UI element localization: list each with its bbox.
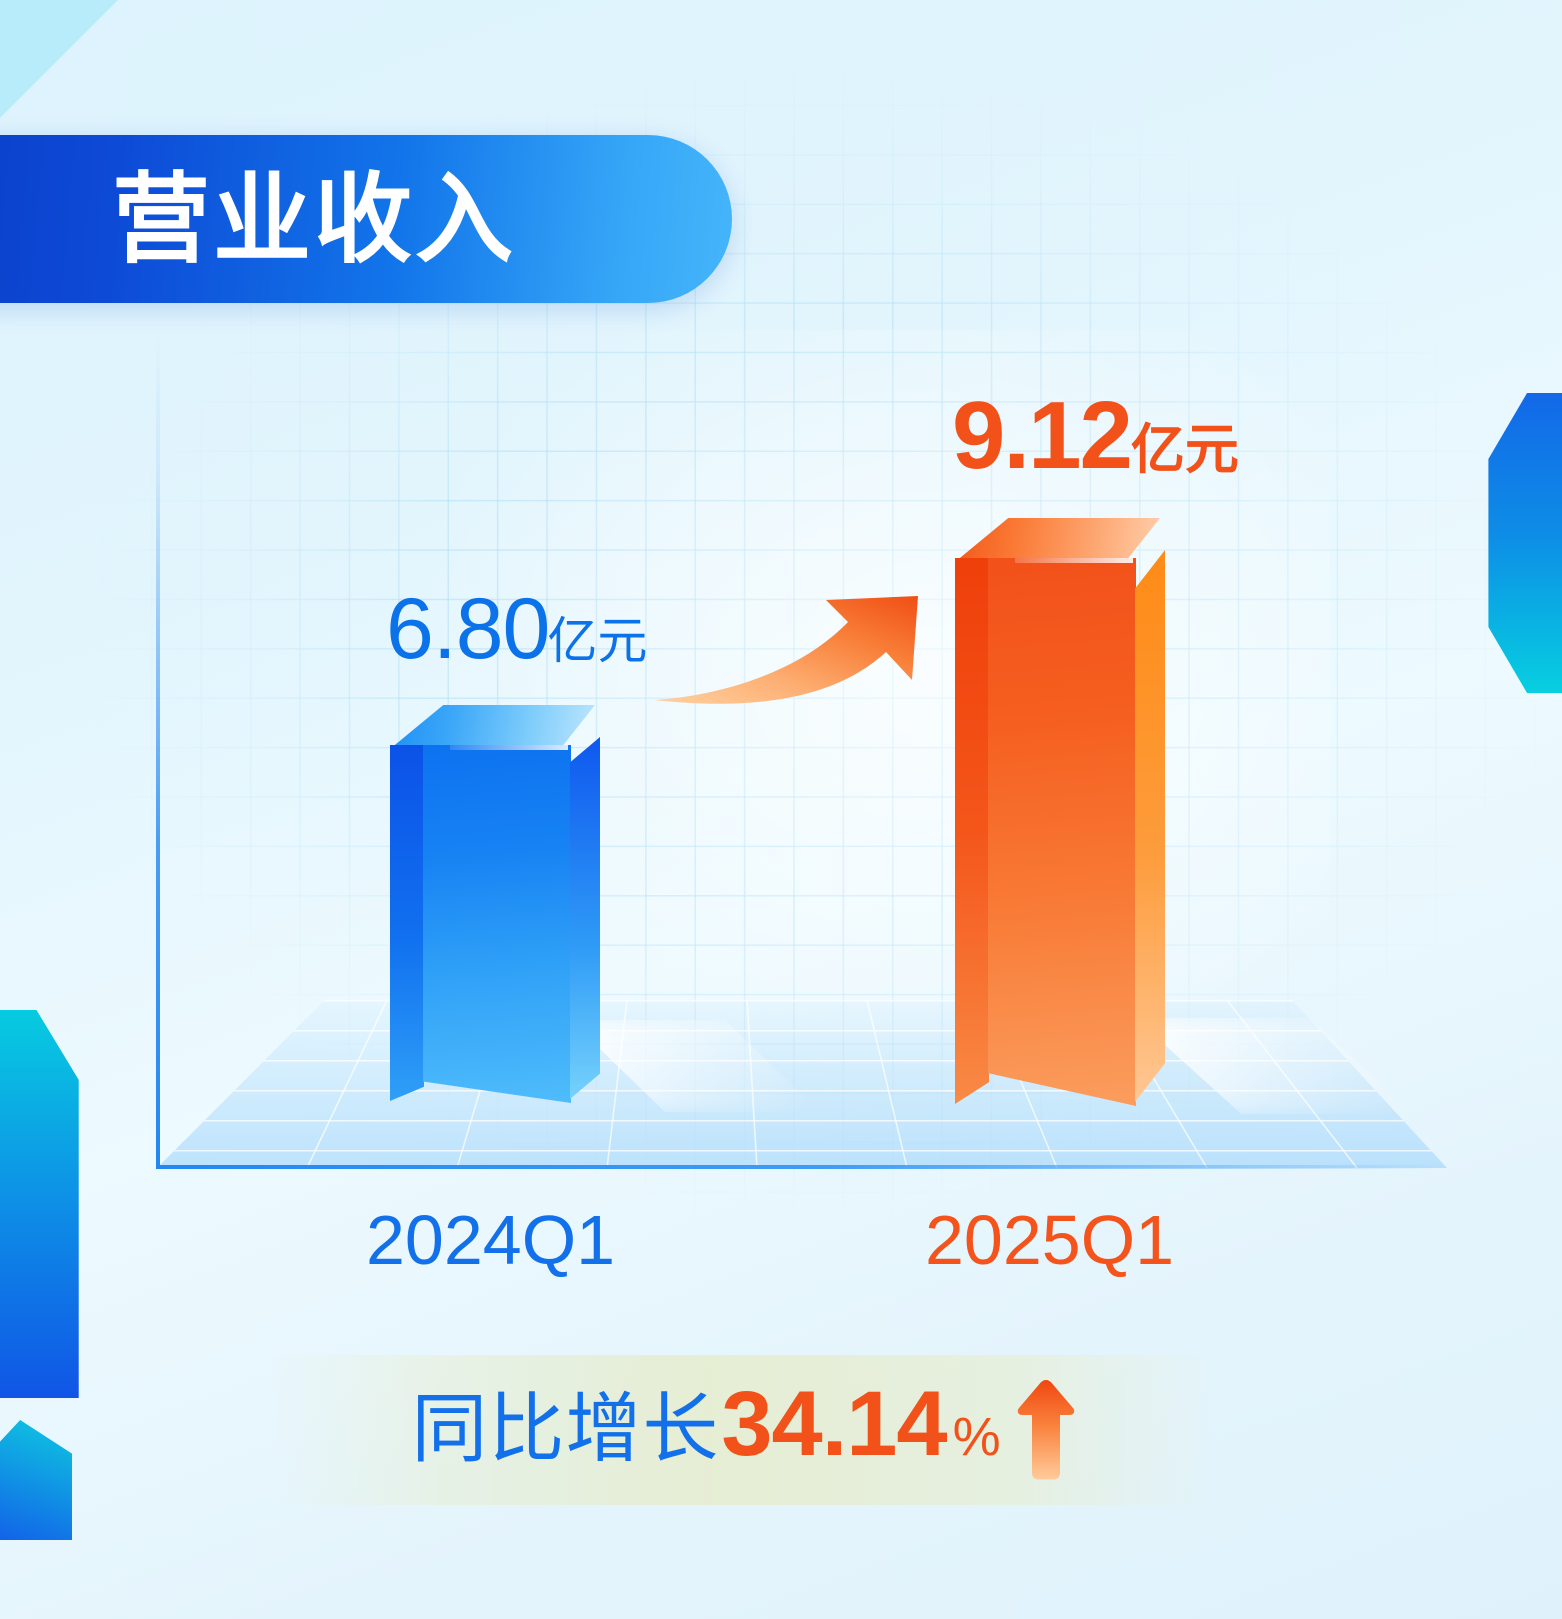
growth-prefix-label: 同比增长: [411, 1392, 719, 1468]
growth-value: 34.14: [721, 1378, 946, 1470]
title-banner: 营业收入: [0, 135, 732, 303]
growth-banner: 同比增长 34.14 %: [272, 1355, 1216, 1505]
corner-decoration-top-left: [0, 0, 118, 118]
growth-up-arrow-icon: [1015, 1378, 1077, 1482]
infographic-canvas: 营业收入: [0, 0, 1562, 1619]
page-title: 营业收入: [112, 170, 516, 268]
growth-percent-sign: %: [953, 1410, 1001, 1464]
growth-banner-content: 同比增长 34.14 %: [411, 1378, 1076, 1482]
